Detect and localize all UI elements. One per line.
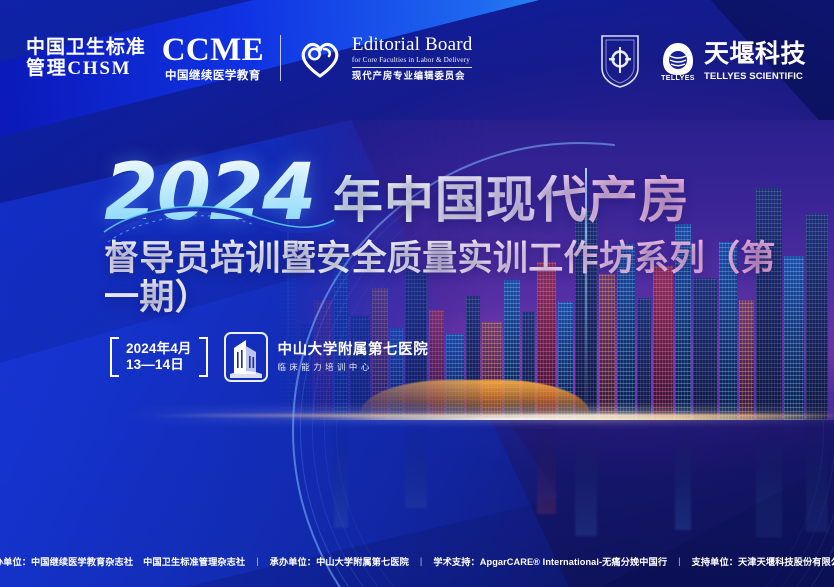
- tellyes-mark: TELLYES: [660, 41, 696, 81]
- university-shield-icon: [598, 32, 642, 90]
- bracket-left: [110, 337, 119, 378]
- hospital-building-glyph: [226, 334, 266, 380]
- footer-value-3: 天津天堰科技股份有限公司: [738, 557, 834, 567]
- footer-item-1: 承办单位：中山大学附属第七医院: [270, 554, 409, 568]
- editorial-board-title: Editorial Board: [352, 35, 473, 56]
- footer-label-3: 支持单位：: [692, 557, 738, 567]
- hospital-subtitle: 临床能力培训中心: [278, 363, 429, 371]
- footer-value-1: 中山大学附属第七医院: [316, 557, 409, 567]
- footer-label-0: 主办单位：: [0, 557, 31, 567]
- year-2024: 2024: [104, 160, 315, 227]
- footer-separator-1: |: [256, 556, 258, 566]
- editorial-board-subtitle: for Core Faculties in Labor & Delivery: [352, 57, 473, 65]
- bracket-right: [199, 337, 208, 378]
- footer-value-0b: 中国卫生标准管理杂志社: [143, 557, 245, 567]
- tellyes-mark-label: TELLYES: [660, 75, 696, 82]
- hospital-building-icon: [224, 332, 268, 382]
- ccme-logo: CCME 中国继续医学教育: [162, 34, 264, 83]
- chsm-line1: 中国卫生标准: [26, 37, 146, 59]
- footer-label-1: 承办单位：: [270, 557, 316, 567]
- logo-divider: [280, 35, 281, 81]
- event-date-line1: 2024年4月: [126, 341, 192, 357]
- footer-value-2: ApgarCARE® International-无痛分娩中国行: [480, 557, 667, 567]
- editorial-board-chinese: 现代产房专业编辑委员会: [352, 67, 473, 81]
- tellyes-logo: TELLYES 天堰科技 TELLYES SCIENTIFIC: [660, 41, 806, 81]
- hospital-name: 中山大学附属第七医院: [278, 342, 429, 359]
- chsm-logo: 中国卫生标准 管理CHSM: [26, 37, 146, 80]
- tellyes-english-name: TELLYES SCIENTIFIC: [704, 72, 806, 82]
- poster-footer: 主办单位：中国继续医学教育杂志社中国卫生标准管理杂志社 | 承办单位：中山大学附…: [0, 535, 834, 587]
- left-logo-group: 中国卫生标准 管理CHSM CCME 中国继续医学教育 Editorial Bo…: [26, 34, 472, 83]
- poster-headline: 2024 年中国现代产房 督导员培训暨安全质量实训工作坊系列（第一期）: [104, 160, 804, 317]
- event-date-line2: 13—14日: [126, 357, 192, 373]
- footer-item-0: 主办单位：中国继续医学教育杂志社中国卫生标准管理杂志社: [0, 554, 245, 568]
- headline-row-1: 2024 年中国现代产房: [104, 160, 804, 227]
- editorial-board-logo: Editorial Board for Core Faculties in La…: [297, 35, 473, 81]
- hospital-text: 中山大学附属第七医院 临床能力培训中心: [278, 342, 429, 372]
- conference-poster: 中国卫生标准 管理CHSM CCME 中国继续医学教育 Editorial Bo…: [0, 0, 834, 587]
- sponsor-logo-bar: 中国卫生标准 管理CHSM CCME 中国继续医学教育 Editorial Bo…: [0, 32, 834, 104]
- tellyes-chinese-name: 天堰科技: [704, 42, 806, 67]
- footer-item-3: 支持单位：天津天堰科技股份有限公司: [692, 554, 834, 568]
- footer-separator-2: |: [420, 556, 422, 566]
- headline-line1: 年中国现代产房: [333, 175, 690, 227]
- event-meta: 2024年4月 13—14日 中山大学附属第七医院 临床能力培训中心: [110, 332, 428, 382]
- event-date-box: 2024年4月 13—14日: [110, 337, 208, 378]
- host-hospital: 中山大学附属第七医院 临床能力培训中心: [224, 332, 429, 382]
- footer-separator-3: |: [678, 556, 680, 566]
- footer-value-0: 中国继续医学教育杂志社: [31, 557, 133, 567]
- footer-item-2: 学术支持：ApgarCARE® International-无痛分娩中国行: [433, 554, 667, 568]
- headline-line2: 督导员培训暨安全质量实训工作坊系列（第一期）: [104, 239, 804, 317]
- ccme-acronym: CCME: [162, 34, 264, 67]
- editorial-board-text: Editorial Board for Core Faculties in La…: [352, 35, 473, 81]
- right-logo-group: TELLYES 天堰科技 TELLYES SCIENTIFIC: [598, 32, 806, 90]
- footer-label-2: 学术支持：: [433, 557, 479, 567]
- chsm-line2: 管理CHSM: [26, 58, 146, 80]
- heart-icon: [297, 35, 343, 81]
- ccme-chinese-name: 中国继续医学教育: [162, 71, 264, 83]
